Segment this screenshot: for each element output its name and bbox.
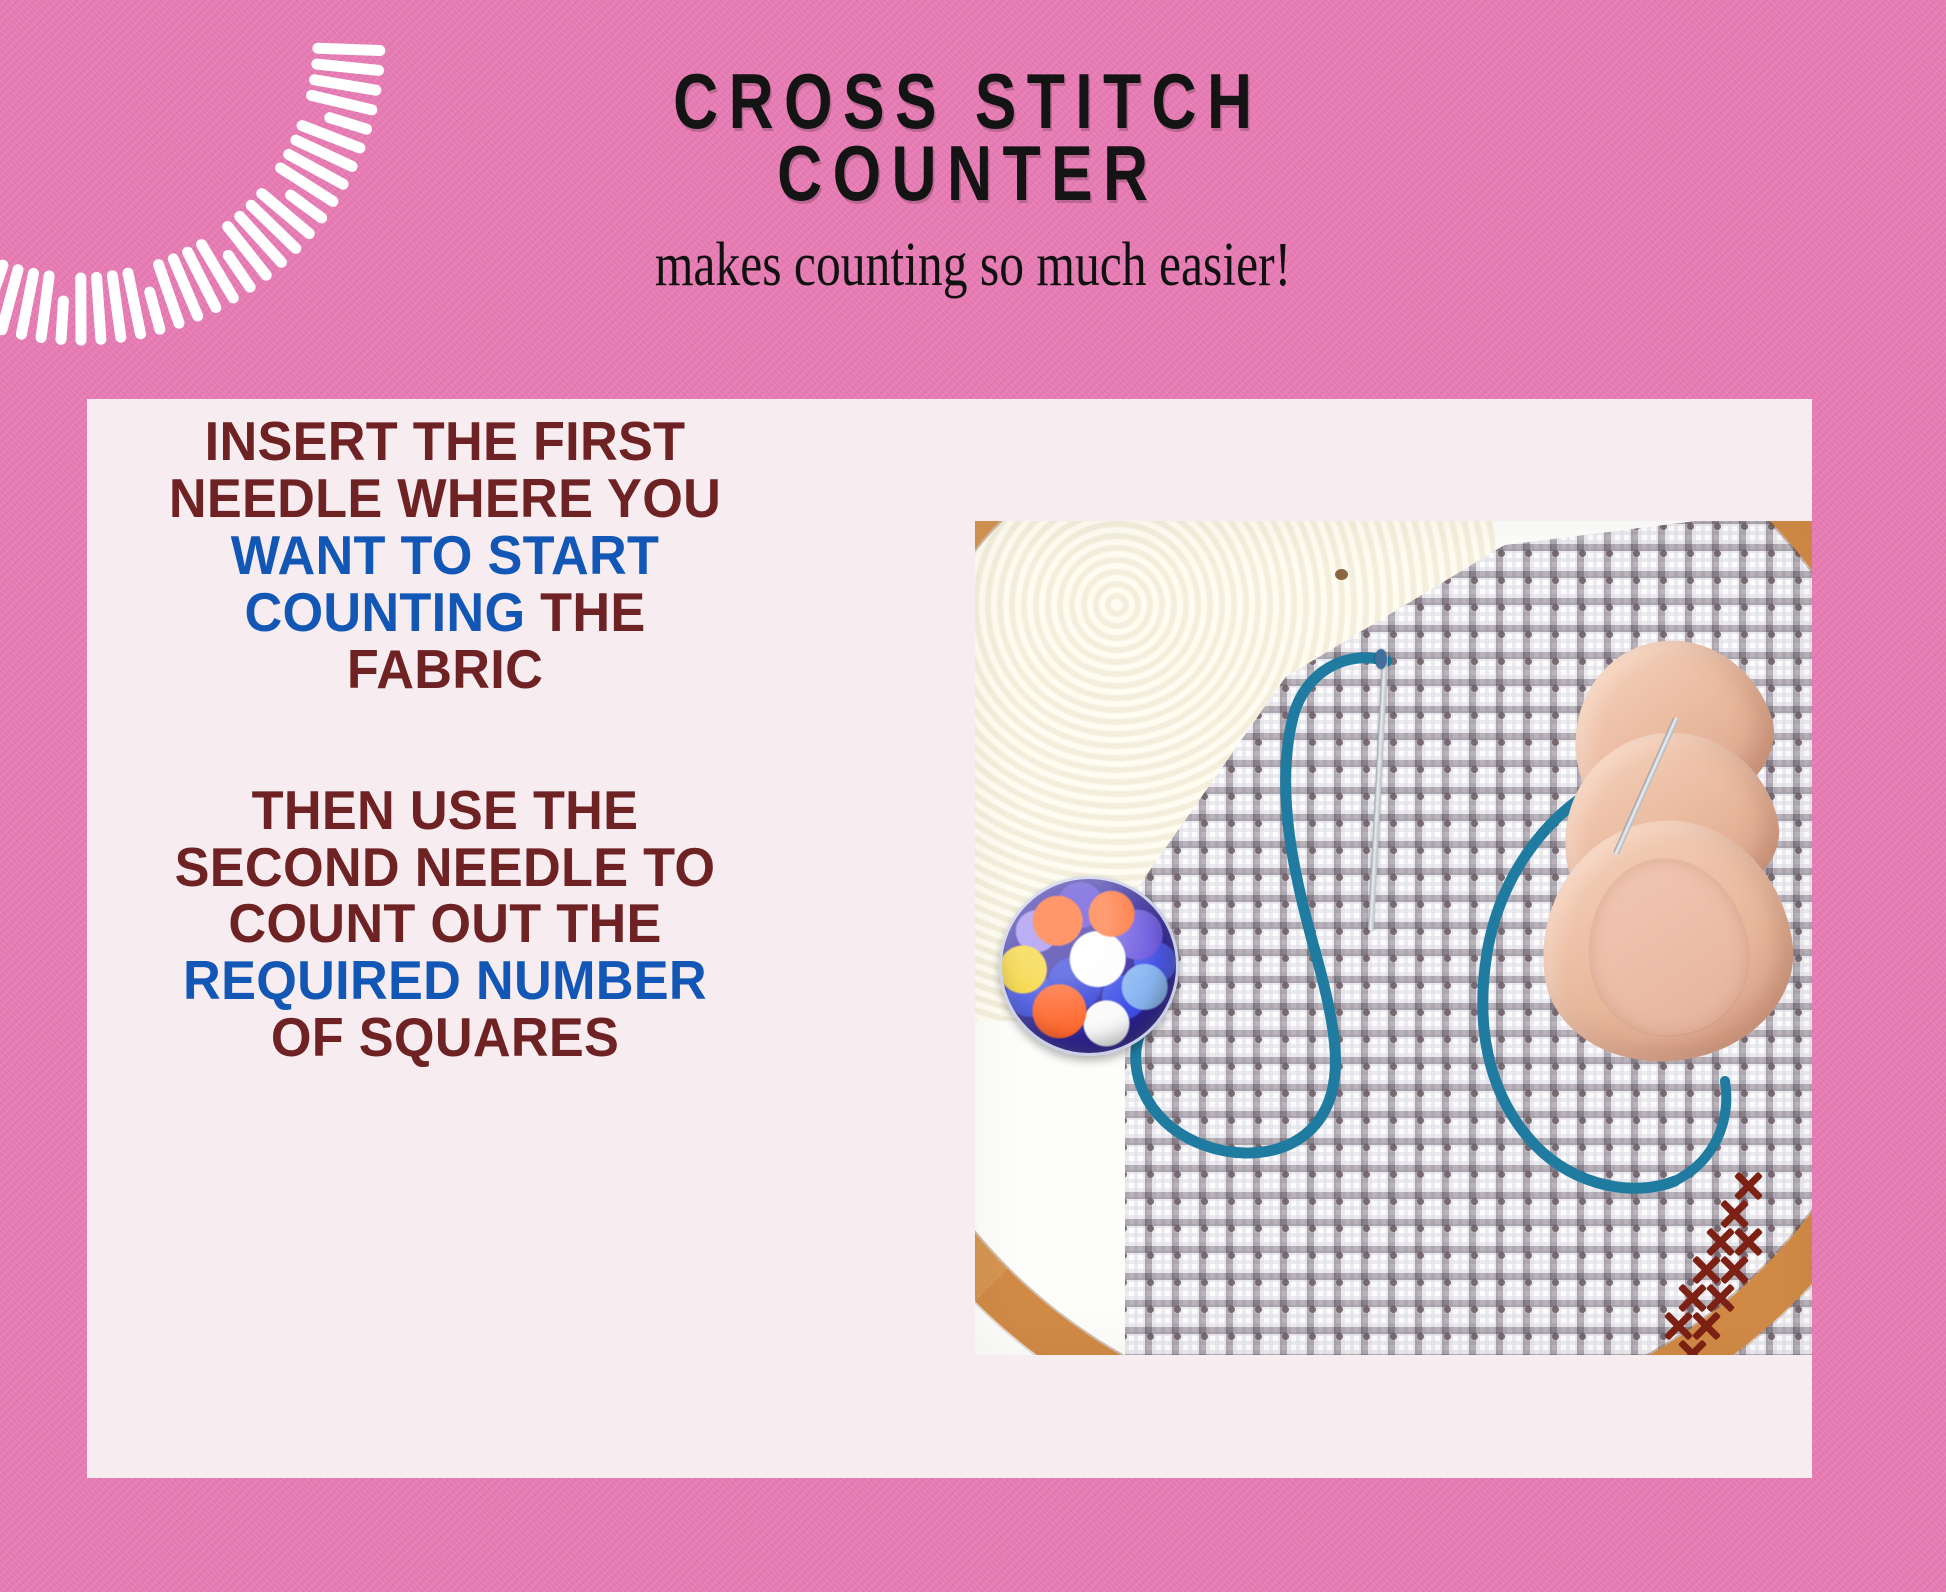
tutorial-photo <box>975 521 1812 1355</box>
instruction-line-2: NEEDLE WHERE YOU <box>113 470 778 527</box>
content-card: INSERT THE FIRST NEEDLE WHERE YOU WANT T… <box>87 399 1812 1478</box>
instruction-line-7: SECOND NEEDLE TO <box>113 839 778 896</box>
instruction-line-5: FABRIC <box>113 641 778 698</box>
instruction-line-3: WANT TO START <box>113 527 778 584</box>
instruction-line-9: REQUIRED NUMBER <box>113 952 778 1009</box>
page-subtitle: makes counting so much easier! <box>195 234 1752 296</box>
header: CROSS STITCH COUNTER makes counting so m… <box>0 66 1946 296</box>
photo-vignette <box>975 521 1812 1355</box>
instruction-line-4: COUNTING THE <box>113 584 778 641</box>
instruction-paragraph-2: THEN USE THE SECOND NEEDLE TO COUNT OUT … <box>113 782 778 1067</box>
instruction-line-4-maroon: THE <box>540 581 645 643</box>
instruction-line-6: THEN USE THE <box>113 782 778 839</box>
instructions-text-block: INSERT THE FIRST NEEDLE WHERE YOU WANT T… <box>113 413 778 1066</box>
instruction-line-8: COUNT OUT THE <box>113 895 778 952</box>
instruction-line-1: INSERT THE FIRST <box>113 413 778 470</box>
paragraph-spacer <box>113 698 778 782</box>
instruction-line-4-blue: COUNTING <box>244 581 540 643</box>
instruction-paragraph-1: INSERT THE FIRST NEEDLE WHERE YOU WANT T… <box>113 413 778 698</box>
poster-background: CROSS STITCH COUNTER makes counting so m… <box>0 0 1946 1592</box>
page-title: CROSS STITCH COUNTER <box>195 66 1752 210</box>
instruction-line-10: OF SQUARES <box>113 1009 778 1066</box>
